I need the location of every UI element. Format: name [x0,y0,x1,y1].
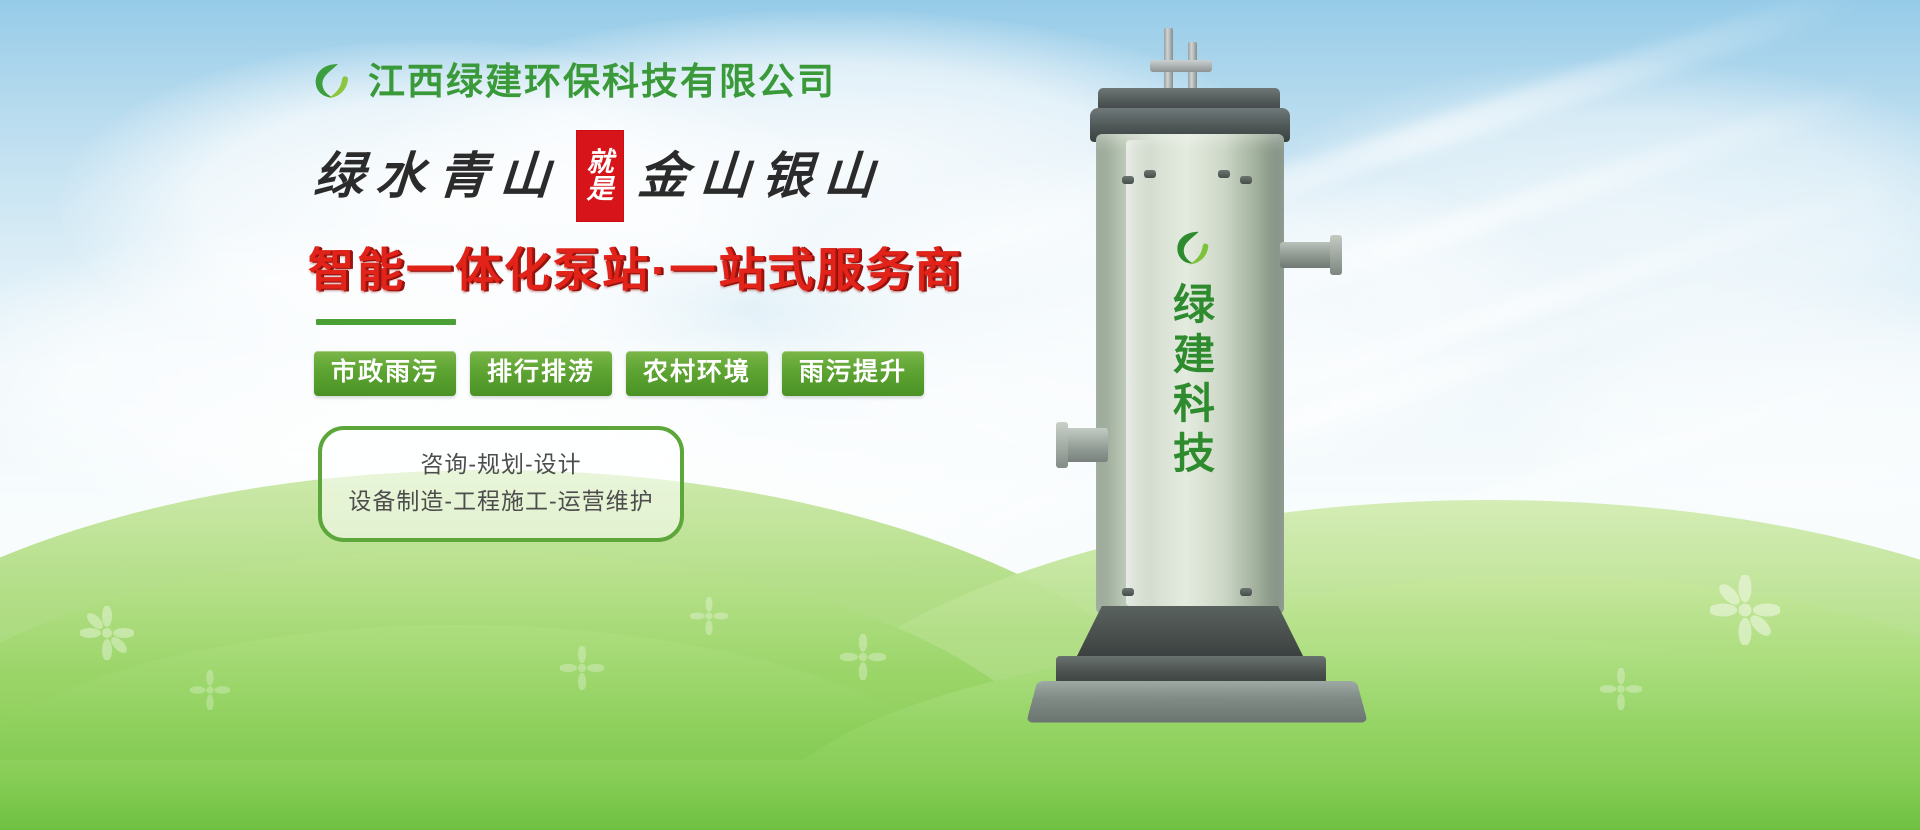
pump-station-equipment: 绿 建 科 技 [1018,28,1438,728]
flower-decoration-icon [690,597,728,635]
tank-bolt [1240,588,1252,596]
tank-bolt [1122,176,1134,184]
seal-stamp: 就 是 [576,130,624,222]
flower-decoration-icon [190,670,230,710]
company-name: 江西绿建环保科技有限公司 [368,63,836,100]
banner-content: 江西绿建环保科技有限公司 绿水青山 就 是 金山银山 智能一体化泵站·一站式服务… [300,58,1060,542]
tag-item-1[interactable]: 市政雨污 [314,351,456,396]
tank-bolt [1144,170,1156,178]
inlet-nozzle-left [1062,428,1108,462]
concrete-pad [1026,681,1367,722]
outlet-nozzle-right [1280,242,1336,268]
service-line-1: 咨询-规划-设计 [332,446,670,483]
leaf-logo-icon [1170,226,1214,270]
brand-char-4: 技 [1166,429,1222,479]
tank-highlight [1126,140,1152,606]
nozzle-flange-right [1330,235,1342,275]
service-line-2: 设备制造-工程施工-运营维护 [332,483,670,520]
headline-text: 智能一体化泵站·一站式服务商 [308,244,1060,297]
hero-banner: 江西绿建环保科技有限公司 绿水青山 就 是 金山银山 智能一体化泵站·一站式服务… [0,0,1920,830]
brand-char-3: 科 [1166,379,1222,429]
vent-pipe [1164,28,1173,90]
green-divider [316,319,456,325]
tank-bolt [1240,176,1252,184]
tag-item-4[interactable]: 雨污提升 [782,351,924,396]
brand-char-1: 绿 [1166,280,1222,330]
flower-decoration-icon [840,634,886,680]
seal-char-2: 是 [587,176,614,203]
tag-item-2[interactable]: 排行排涝 [470,351,612,396]
service-scope-box: 咨询-规划-设计 设备制造-工程施工-运营维护 [318,426,684,543]
tag-item-3[interactable]: 农村环境 [626,351,768,396]
seal-char-1: 就 [587,149,614,176]
calligraphy-slogan: 绿水青山 就 是 金山银山 [314,130,1060,222]
ground-strip [0,760,1920,830]
leaf-logo-icon [308,58,354,104]
tank-base-plate [1056,656,1326,684]
flower-decoration-icon [1710,575,1780,645]
vent-cap [1150,60,1212,72]
flower-decoration-icon [1600,668,1642,710]
tank-base-cone [1074,606,1306,662]
tag-list: 市政雨污 排行排涝 农村环境 雨污提升 [314,351,1060,396]
flower-decoration-icon [560,646,604,690]
equipment-brand-text: 绿 建 科 技 [1166,280,1222,478]
company-header: 江西绿建环保科技有限公司 [308,58,1060,104]
calligraphy-left: 绿水青山 [312,151,563,201]
tank-bolt [1122,588,1134,596]
brand-char-2: 建 [1166,330,1222,380]
calligraphy-right: 金山银山 [636,151,887,201]
flower-decoration-icon [80,606,134,660]
tank-bolt [1218,170,1230,178]
